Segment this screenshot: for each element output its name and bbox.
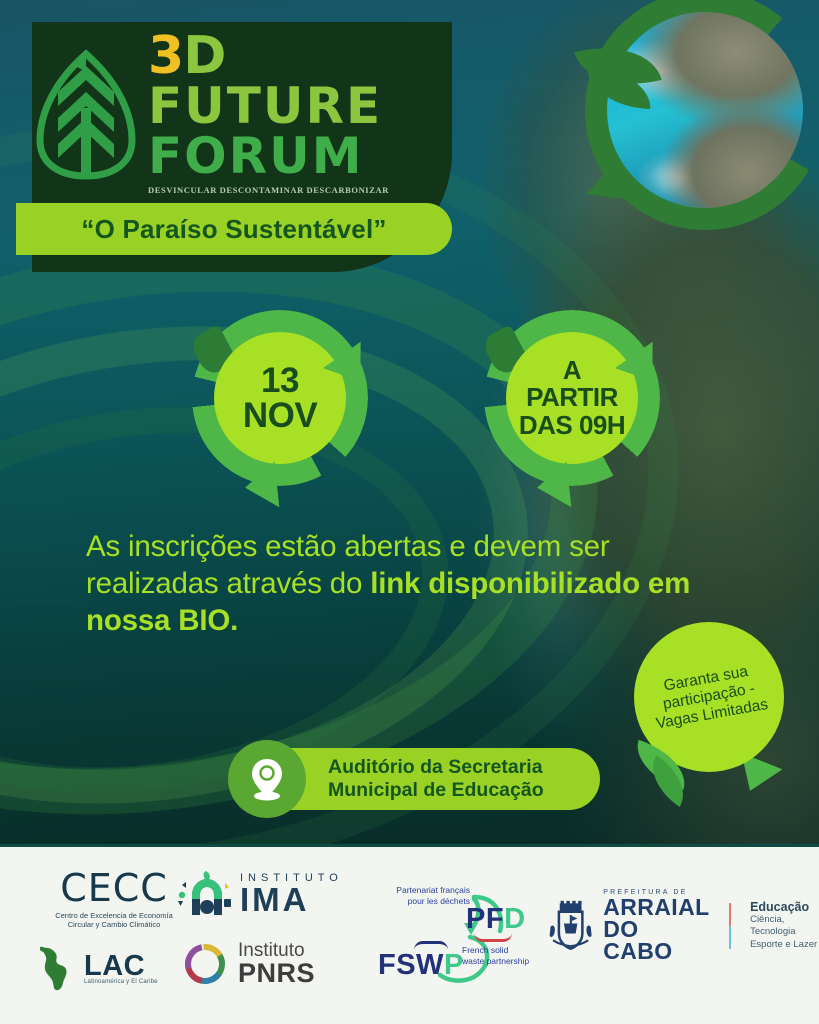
event-poster: 3D FUTURE FORUM DESVINCULAR DESCONTAMINA… [0,0,819,1024]
logo-ima: INSTITUTO IMA [176,869,343,919]
prefeitura-name-line1: ARRAIAL [603,896,709,918]
ima-wordmark: IMA [240,884,343,915]
photo-circle-badge [585,0,819,230]
latin-america-map-icon [38,945,78,993]
brand-logo: 3D FUTURE FORUM DESVINCULAR DESCONTAMINA… [32,34,432,194]
department-line2: Esporte e Lazer [750,939,819,951]
recycle-arrow-head [535,461,572,510]
map-pin-icon [228,740,306,818]
venue-text: Auditório da Secretaria Municipal de Edu… [328,756,544,803]
logo-fswp-pfd: Partenariat français pour les déchets PF… [378,885,528,995]
cecc-wordmark: CECC [34,869,194,907]
logo-line-future: FUTURE [148,81,389,131]
logo-prefeitura: PREFEITURA DE ARRAIAL DO CABO Educação C… [548,889,819,962]
date-badge: 13 NOV [182,300,378,496]
map-pin-glyph [250,757,284,801]
aerial-coastline-photo [607,12,803,208]
venue-pill: Auditório da Secretaria Municipal de Edu… [232,748,600,810]
poster-title-banner: “O Paraíso Sustentável” [16,203,452,255]
recycle-arrow-head [243,461,280,510]
time-badge-center: A PARTIR DAS 09H [506,332,638,464]
logo-line-3d: 3D [148,33,389,81]
logo-cecc: CECC Centro de Excelencia de Economía Ci… [34,869,194,930]
department-line1: Ciência, Tecnologia [750,914,819,939]
sponsor-footer: CECC Centro de Excelencia de Economía Ci… [0,844,819,1024]
limited-spots-text: Garanta sua participação - Vagas Limitad… [630,657,787,736]
lac-wordmark: LAC [84,953,158,979]
time-badge: A PARTIR DAS 09H [474,300,670,496]
logo-lac: LAC Latinoamérica y El Caribe [38,945,158,993]
pfd-french-label: Partenariat français pour les déchets [384,885,470,908]
city-crest-icon [548,895,593,957]
pnrs-wordmark: PNRS [238,960,315,987]
time-badge-text: A PARTIR DAS 09H [519,357,625,439]
page-title: “O Paraíso Sustentável” [81,214,386,245]
pfd-wordmark: PFD [466,903,526,936]
lac-subtitle: Latinoamérica y El Caribe [84,979,158,985]
logo-tagline: DESVINCULAR DESCONTAMINAR DESCARBONIZAR [148,185,389,195]
leaf-chevron-logo-icon [32,48,140,180]
cecc-subtitle: Centro de Excelencia de Economía Circula… [34,911,194,930]
department-title: Educação [750,900,819,914]
logo-line-forum: FORUM [148,131,389,181]
venue-line-2: Municipal de Educação [328,779,544,802]
date-badge-center: 13 NOV [214,332,346,464]
date-badge-text: 13 NOV [243,363,317,433]
fswp-wordmark: FSWP [378,949,464,982]
magnet-recycle-icon [176,869,232,919]
pfd-red-underline [474,933,512,942]
fswp-english-label: French solid waste partnership [462,945,532,968]
prefeitura-name-line2: DO CABO [603,918,709,962]
logo-pnrs: Instituto PNRS [182,941,315,987]
limited-spots-badge: Garanta sua participação - Vagas Limitad… [624,618,800,790]
venue-line-1: Auditório da Secretaria [328,756,544,779]
multicolor-ring-icon [182,941,228,987]
vertical-divider [729,903,732,949]
